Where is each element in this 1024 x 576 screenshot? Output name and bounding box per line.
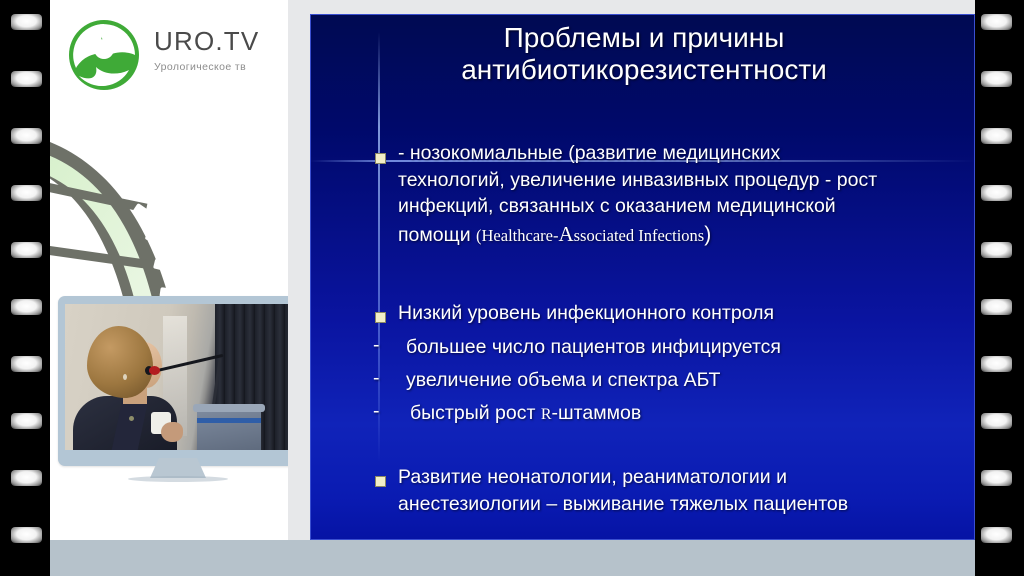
film-perforation xyxy=(11,527,42,543)
r-strain-letter: R xyxy=(541,406,552,423)
film-perforation xyxy=(981,413,1012,429)
monitor-stand-base xyxy=(128,476,228,482)
block2-sub-2: увеличение объема и спектра АБТ xyxy=(406,367,720,394)
english-note-capital-a: A xyxy=(558,222,573,246)
film-perforation xyxy=(11,14,42,30)
block2-sub-3: быстрый рост R-штаммов xyxy=(410,400,641,427)
film-perforation xyxy=(981,128,1012,144)
branding-panel: URO.TV Урологическое тв xyxy=(50,0,288,540)
film-perforation xyxy=(981,470,1012,486)
film-perforation xyxy=(981,242,1012,258)
english-note-rest: ssociated Infections xyxy=(574,226,705,245)
film-perforation xyxy=(981,356,1012,372)
brand-subtitle: Урологическое тв xyxy=(154,61,259,73)
film-perforation xyxy=(11,242,42,258)
film-perforation xyxy=(981,185,1012,201)
block1-line-4-text: помощи xyxy=(398,224,471,246)
block3-line-2: анестезиологии – выживание тяжелых пацие… xyxy=(398,491,958,518)
slide-block-3: Развитие неонатологии, реаниматологии и … xyxy=(398,464,958,517)
uro-tv-logo-icon xyxy=(67,18,141,92)
decor-vertical-line xyxy=(378,32,380,462)
slide-title-line-1: Проблемы и причины xyxy=(344,22,944,54)
bullet-marker-1 xyxy=(376,154,385,163)
bottom-band xyxy=(50,540,975,576)
film-perforation xyxy=(11,470,42,486)
block2-sub-3-before: быстрый рост xyxy=(410,402,541,424)
block1-line-4: помощи (Healthcare-Associated Infections… xyxy=(398,220,958,250)
film-perforation xyxy=(981,14,1012,30)
block2-heading: Низкий уровень инфекционного контроля xyxy=(398,300,938,327)
film-perforation xyxy=(11,356,42,372)
logo-block: URO.TV Урологическое тв xyxy=(62,14,288,100)
dash-marker-3: - xyxy=(373,400,380,423)
film-perforation xyxy=(11,413,42,429)
block1-line-2: технологий, увеличение инвазивных процед… xyxy=(398,167,958,194)
presentation-slide: Проблемы и причины антибиотикорезистентн… xyxy=(310,14,975,540)
bullet-marker-3 xyxy=(376,477,385,486)
slide-title-line-2: антибиотикорезистентности xyxy=(344,54,944,86)
speaker-video-screen[interactable] xyxy=(65,304,288,450)
monitor-stand-neck xyxy=(150,458,206,478)
bullet-marker-2 xyxy=(376,313,385,322)
english-note-open: (Healthcare- xyxy=(476,226,558,245)
film-perforation xyxy=(981,71,1012,87)
slide-block-1: - нозокомиальные (развитие медицинских т… xyxy=(398,140,958,249)
block3-line-1: Развитие неонатологии, реаниматологии и xyxy=(398,464,958,491)
brand-title: URO.TV xyxy=(154,28,259,54)
film-perforation xyxy=(981,527,1012,543)
english-note: (Healthcare-Associated Infections xyxy=(476,226,704,245)
film-perforation xyxy=(981,299,1012,315)
dash-marker-2: - xyxy=(373,367,380,390)
logo-text-block: URO.TV Урологическое тв xyxy=(154,28,259,73)
english-note-close: ) xyxy=(704,223,711,246)
slide-block-2: Низкий уровень инфекционного контроля xyxy=(398,300,938,327)
slide-title: Проблемы и причины антибиотикорезистентн… xyxy=(344,22,944,87)
film-perforation xyxy=(11,128,42,144)
block1-line-1: - нозокомиальные (развитие медицинских xyxy=(398,140,958,167)
video-player-frame: URO.TV Урологическое тв xyxy=(0,0,1024,576)
block2-sub-3-after: -штаммов xyxy=(552,402,642,424)
block1-line-3: инфекций, связанных с оказанием медицинс… xyxy=(398,193,958,220)
film-perforation xyxy=(11,71,42,87)
block2-sub-1: большее число пациентов инфицируется xyxy=(406,334,781,361)
dash-marker-1: - xyxy=(373,334,380,357)
film-perforation xyxy=(11,185,42,201)
video-inset-monitor[interactable] xyxy=(58,296,288,511)
film-perforation xyxy=(11,299,42,315)
